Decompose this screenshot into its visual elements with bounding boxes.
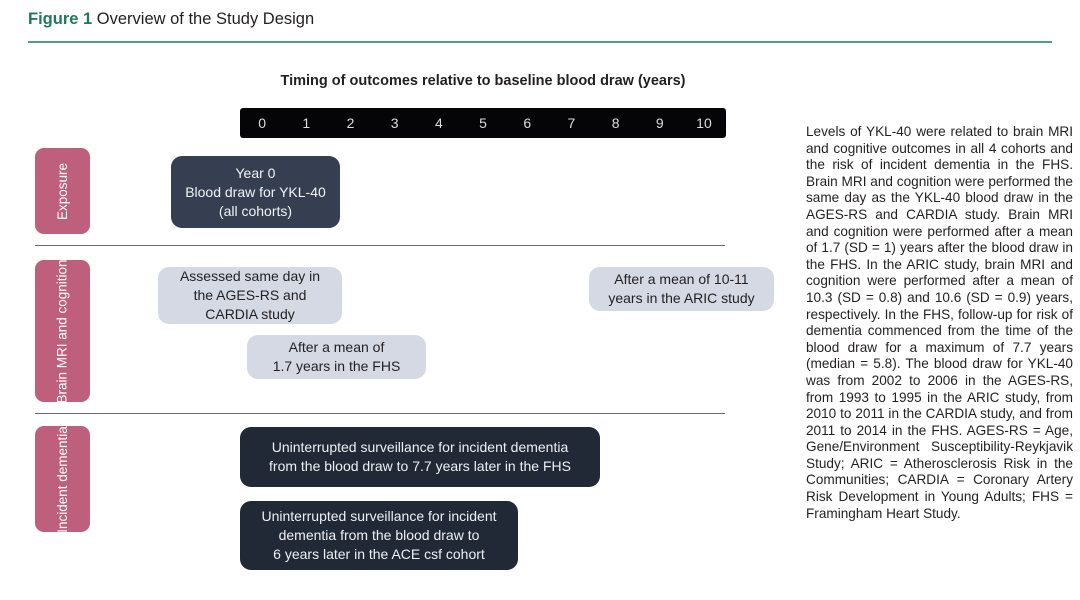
row-divider-1 (35, 245, 725, 246)
timeline-tick: 1 (284, 108, 328, 138)
figure-title: Overview of the Study Design (97, 10, 314, 28)
row-label-incident-dementia-text: Incident dementia (54, 426, 71, 533)
figure-header: Figure 1 Overview of the Study Design (28, 8, 1052, 43)
timeline-tick: 0 (240, 108, 284, 138)
row-label-exposure: Exposure (35, 148, 90, 234)
box-aric-10-11-years: After a mean of 10-11 years in the ARIC … (589, 267, 774, 311)
row-label-incident-dementia: Incident dementia (35, 426, 90, 532)
timeline-tick: 4 (417, 108, 461, 138)
timeline-tick: 7 (549, 108, 593, 138)
figure-title-line: Figure 1 Overview of the Study Design (28, 8, 1052, 30)
box-aric-10-11-years-text: After a mean of 10-11 years in the ARIC … (598, 270, 764, 308)
row-label-exposure-text: Exposure (54, 162, 71, 219)
figure-body: Timing of outcomes relative to baseline … (0, 52, 1080, 600)
timeline-tick: 2 (328, 108, 372, 138)
box-exposure-blood-draw: Year 0 Blood draw for YKL-40 (all cohort… (171, 156, 340, 228)
box-surveillance-fhs: Uninterrupted surveillance for incident … (240, 427, 600, 487)
timeline-tick: 10 (682, 108, 726, 138)
box-fhs-1-7-years: After a mean of 1.7 years in the FHS (247, 335, 426, 379)
figure-label: Figure 1 (28, 10, 92, 28)
figure-header-rule (28, 41, 1052, 43)
timeline-tick: 6 (505, 108, 549, 138)
box-surveillance-ace-csf-text: Uninterrupted surveillance for incident … (251, 507, 506, 564)
box-fhs-1-7-years-text: After a mean of 1.7 years in the FHS (263, 338, 411, 376)
timeline-axis-bar: 0 1 2 3 4 5 6 7 8 9 10 (240, 108, 726, 138)
row-divider-2 (35, 413, 725, 414)
timeline-tick: 5 (461, 108, 505, 138)
box-surveillance-fhs-text: Uninterrupted surveillance for incident … (259, 438, 581, 476)
timeline-tick: 9 (638, 108, 682, 138)
figure-caption: Levels of YKL-40 were related to brain M… (806, 124, 1073, 522)
box-exposure-blood-draw-text: Year 0 Blood draw for YKL-40 (all cohort… (175, 164, 336, 221)
study-design-diagram: Timing of outcomes relative to baseline … (0, 52, 790, 600)
timeline-tick: 3 (373, 108, 417, 138)
timeline-axis-title: Timing of outcomes relative to baseline … (240, 73, 726, 89)
row-label-brain-mri-cognition-text: Brain MRI and cognition (54, 259, 71, 403)
box-assessed-same-day: Assessed same day in the AGES-RS and CAR… (158, 267, 342, 324)
row-label-brain-mri-cognition: Brain MRI and cognition (35, 260, 90, 402)
timeline-tick: 8 (594, 108, 638, 138)
box-surveillance-ace-csf: Uninterrupted surveillance for incident … (240, 501, 518, 570)
box-assessed-same-day-text: Assessed same day in the AGES-RS and CAR… (170, 267, 330, 324)
